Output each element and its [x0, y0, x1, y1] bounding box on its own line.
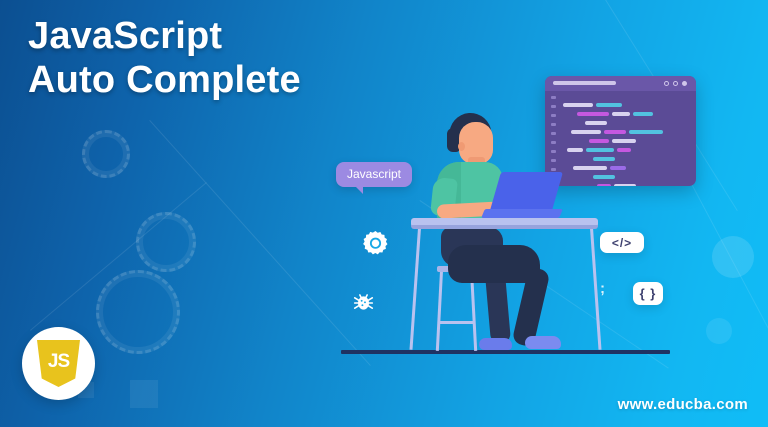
bg-line-2	[689, 180, 768, 392]
bg-gear-small-icon	[82, 130, 130, 178]
shoe-front	[525, 336, 561, 349]
bg-gear-medium-icon	[96, 270, 180, 354]
editor-code-token	[633, 112, 653, 116]
code-tag-badge: </>	[600, 232, 644, 253]
editor-code-token	[567, 148, 583, 152]
editor-line-marker	[551, 123, 556, 126]
code-tag-label: </>	[612, 236, 632, 250]
editor-line-marker	[551, 132, 556, 135]
desk-leg-left	[409, 228, 421, 350]
stool-crossbar	[440, 321, 473, 324]
floor-line	[341, 350, 670, 354]
editor-code-line	[563, 159, 690, 168]
editor-code-line	[563, 141, 690, 150]
editor-code-token	[617, 148, 631, 152]
bg-circle-1	[712, 236, 754, 278]
js-logo-text: JS	[48, 351, 69, 373]
code-editor-window	[545, 76, 696, 186]
bg-circle-2	[706, 318, 732, 344]
page-title: JavaScript Auto Complete	[28, 14, 301, 102]
editor-line-marker	[551, 150, 556, 153]
editor-code-line	[563, 177, 690, 186]
braces-label: { }	[640, 286, 657, 301]
editor-code-line	[563, 105, 690, 114]
bg-square-3	[130, 380, 158, 408]
semicolon-mark: ;	[600, 280, 605, 297]
desk-surface-edge	[411, 225, 598, 229]
gear-icon	[362, 231, 389, 258]
editor-line-marker	[551, 141, 556, 144]
window-minimize-dot-icon[interactable]	[664, 81, 669, 86]
javascript-logo: JS	[22, 327, 95, 400]
window-maximize-dot-icon[interactable]	[673, 81, 678, 86]
title-line-1: JavaScript	[28, 15, 222, 57]
banner-image: JavaScript Auto Complete Javascr	[0, 0, 768, 427]
editor-code-line	[563, 123, 690, 132]
editor-code-area	[563, 96, 690, 186]
editor-line-marker	[551, 114, 556, 117]
window-close-dot-icon[interactable]	[682, 81, 687, 86]
shoe-back	[479, 338, 512, 350]
website-url: www.educba.com	[618, 396, 748, 413]
editor-code-token	[612, 112, 630, 116]
editor-line-marker	[551, 159, 556, 162]
laptop-screen-icon	[489, 172, 563, 214]
title-line-2: Auto Complete	[28, 58, 301, 102]
editor-title-placeholder-bar	[553, 81, 616, 85]
editor-line-marker	[551, 105, 556, 108]
stool-leg-left	[436, 271, 443, 351]
ear	[458, 142, 465, 151]
js-shield-icon: JS	[37, 340, 80, 387]
editor-titlebar	[545, 76, 696, 91]
speech-bubble-label: Javascript	[347, 167, 401, 181]
bug-icon	[351, 292, 376, 314]
editor-line-marker	[551, 168, 556, 171]
speech-bubble: Javascript	[336, 162, 412, 187]
editor-line-marker	[551, 96, 556, 99]
laptop-base	[481, 209, 563, 218]
editor-code-token	[614, 184, 636, 186]
bg-gear-large-icon	[136, 212, 196, 272]
editor-code-line	[563, 96, 690, 105]
braces-badge: { }	[633, 282, 663, 305]
